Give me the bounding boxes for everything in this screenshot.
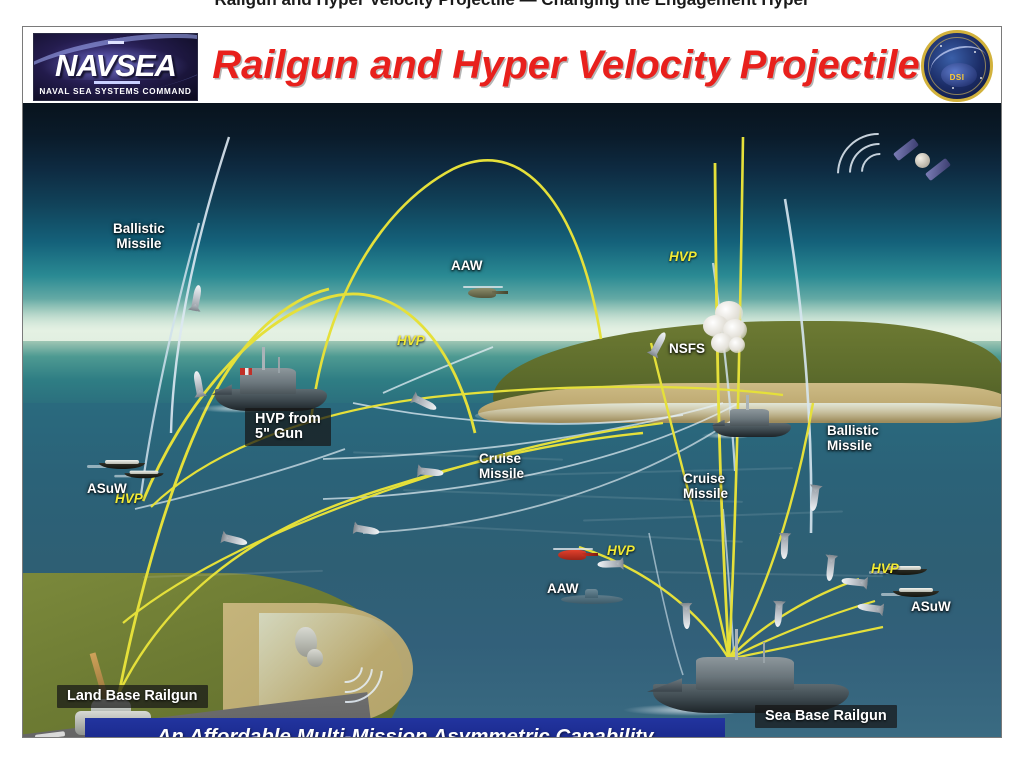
hvp-track-seabase-8	[729, 403, 813, 659]
label-hvp-nsfs: HVP	[669, 249, 697, 264]
label-asuw-left: ASuW	[87, 481, 127, 496]
hvp-track-5in-gun-b	[311, 160, 601, 421]
label-sea-base-railgun: Sea Base Railgun	[755, 705, 897, 728]
ship-mast-secondary	[278, 357, 280, 373]
threat-track-aaw	[383, 347, 493, 393]
threat-track-ballistic-left-2	[141, 223, 199, 495]
helicopter-tail	[492, 291, 508, 294]
ship-mast	[746, 395, 749, 410]
helicopter-tail	[582, 553, 598, 556]
nsfs-impact-explosion	[699, 301, 759, 357]
label-ballistic-missile-right: Ballistic Missile	[827, 423, 879, 453]
label-hvp-bottom-left: HVP	[607, 543, 635, 558]
seal-star	[980, 77, 982, 79]
ship-sea-base-railgun	[653, 637, 849, 713]
asuw-craft-right-b	[893, 587, 939, 597]
ship-mast-secondary	[763, 642, 765, 663]
ship-frigate-coastal	[713, 399, 791, 437]
label-aaw-center: AAW	[451, 258, 483, 273]
label-hvp-center: HVP	[397, 333, 425, 348]
boat-deck	[899, 588, 933, 592]
navsea-logo: NAVSEA NAVAL SEA SYSTEMS COMMAND	[33, 33, 198, 101]
threat-track-cruise-a	[353, 403, 683, 424]
label-nsfs: NSFS	[669, 341, 705, 356]
asuw-craft-left-b	[124, 470, 163, 479]
label-land-base-railgun: Land Base Railgun	[57, 685, 208, 708]
cruise-missile-center-body	[683, 603, 691, 629]
ship-mast	[262, 347, 265, 370]
navsea-subtitle: NAVAL SEA SYSTEMS COMMAND	[34, 86, 197, 96]
slide-canvas: NAVSEA NAVAL SEA SYSTEMS COMMAND Railgun…	[22, 26, 1002, 738]
asuw-craft-left-a	[99, 459, 145, 469]
clipped-document-header: Railgun and Hyper Velocity Projectile — …	[0, 0, 1024, 14]
page-title: Railgun and Hyper Velocity Projectile	[201, 33, 931, 97]
seal-star	[974, 51, 976, 53]
ship-flag	[240, 368, 252, 375]
label-aaw-bottom: AAW	[547, 581, 579, 596]
hvp-round-bottom-left	[597, 560, 623, 568]
ship-mast	[735, 629, 738, 659]
label-hvp-from-5in-gun: HVP from 5" Gun	[245, 408, 331, 446]
submarine-sail	[585, 589, 598, 598]
shore-sensor-arcs	[323, 641, 393, 701]
threat-track-ballistic-right	[785, 199, 811, 533]
slide-title-bar: NAVSEA NAVAL SEA SYSTEMS COMMAND Railgun…	[23, 27, 1001, 103]
boat-deck	[130, 471, 159, 474]
label-asuw-right: ASuW	[911, 599, 951, 614]
operational-scene: Ballistic Missile HVP HVP from 5" Gun AS…	[23, 103, 1001, 737]
boat-deck	[105, 460, 139, 464]
ship-destroyer-5in-gun	[215, 353, 327, 411]
navsea-wordmark: NAVSEA	[34, 48, 197, 84]
aaw-helicopter-center	[461, 285, 507, 299]
logo-bar-top	[108, 41, 124, 44]
seal-star	[940, 45, 942, 47]
label-cruise-missile-center: Cruise Missile	[479, 451, 524, 481]
label-hvp-bottom-right: HVP	[871, 561, 899, 576]
tagline-banner: An Affordable Multi-Mission Asymmetric C…	[85, 718, 725, 737]
label-cruise-missile-right: Cruise Missile	[683, 471, 728, 501]
hvp-track-seabase-2	[729, 137, 743, 659]
seal-star	[952, 87, 954, 89]
threat-track-asuw-left	[135, 449, 345, 509]
ship-superstructure	[696, 657, 794, 690]
blast-puff	[729, 337, 745, 353]
ship-superstructure	[730, 409, 769, 426]
program-seal-icon: DSI	[921, 30, 993, 102]
label-ballistic-missile-left: Ballistic Missile	[113, 221, 165, 251]
aaw-helicopter-bottom	[551, 547, 597, 561]
tagline-text: An Affordable Multi-Mission Asymmetric C…	[156, 725, 653, 737]
